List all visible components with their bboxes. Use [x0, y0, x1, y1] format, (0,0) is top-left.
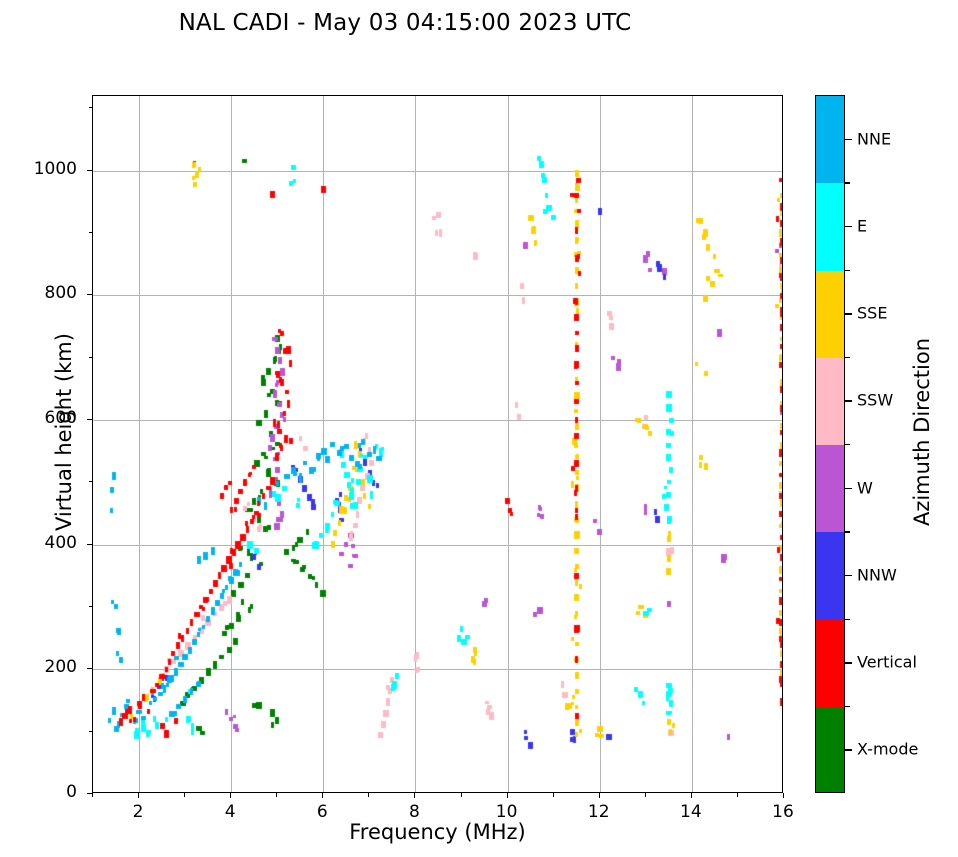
colorbar-segment-nnw [816, 532, 844, 619]
plot-area [92, 95, 783, 793]
colorbar-segment-vertical [816, 620, 844, 707]
colorbar-tick [845, 488, 852, 489]
colorbar-segment-w [816, 445, 844, 532]
x-tick-label: 6 [292, 802, 352, 822]
x-tick-minor [92, 793, 93, 797]
x-tick-label: 8 [384, 802, 444, 822]
x-tick-major [230, 793, 231, 798]
x-tick-major [138, 793, 139, 798]
colorbar-tick-label-nne: NNE [857, 129, 891, 148]
colorbar-boundary-tick [845, 270, 850, 271]
colorbar-tick [845, 400, 852, 401]
colorbar-tick [845, 662, 852, 663]
x-tick-label: 16 [753, 802, 813, 822]
x-tick-minor [737, 793, 738, 797]
colorbar [815, 95, 845, 793]
y-tick-major [87, 294, 92, 295]
y-tick-minor [89, 731, 93, 732]
y-axis-label: Virtual height (km) [52, 132, 76, 732]
x-tick-minor [553, 793, 554, 797]
colorbar-segment-e [816, 183, 844, 270]
x-tick-minor [461, 793, 462, 797]
colorbar-boundary-tick [845, 706, 850, 707]
colorbar-boundary-tick [845, 357, 850, 358]
colorbar-tick-label-e: E [857, 216, 867, 235]
ionogram-page: NAL CADI - May 03 04:15:00 2023 UTC 2468… [0, 0, 958, 857]
colorbar-tick-label-ssw: SSW [857, 391, 893, 410]
x-tick-minor [276, 793, 277, 797]
colorbar-tick-label-w: W [857, 478, 873, 497]
colorbar-tick-label-vertical: Vertical [857, 653, 917, 672]
x-tick-label: 12 [569, 802, 629, 822]
x-axis-label: Frequency (MHz) [92, 820, 783, 844]
y-tick-minor [89, 107, 93, 108]
y-tick-major [87, 544, 92, 545]
colorbar-tick [845, 575, 852, 576]
y-tick-major [87, 170, 92, 171]
x-tick-label: 2 [108, 802, 168, 822]
x-tick-major [691, 793, 692, 798]
colorbar-boundary-tick [845, 182, 850, 183]
colorbar-tick-label-x-mode: X-mode [857, 740, 918, 759]
y-tick-minor [89, 481, 93, 482]
x-tick-major [414, 793, 415, 798]
x-tick-label: 10 [477, 802, 537, 822]
colorbar-tick-label-sse: SSE [857, 304, 887, 323]
colorbar-tick [845, 313, 852, 314]
y-tick-major [87, 793, 92, 794]
y-tick-major [87, 668, 92, 669]
x-tick-minor [368, 793, 369, 797]
y-tick-minor [89, 606, 93, 607]
x-tick-label: 4 [200, 802, 260, 822]
colorbar-label: Azimuth Direction [910, 222, 934, 642]
x-tick-minor [645, 793, 646, 797]
colorbar-tick [845, 139, 852, 140]
y-tick-minor [89, 232, 93, 233]
colorbar-boundary-tick [845, 619, 850, 620]
colorbar-boundary-tick [845, 531, 850, 532]
x-tick-major [783, 793, 784, 798]
colorbar-segment-ssw [816, 358, 844, 445]
x-tick-major [507, 793, 508, 798]
x-tick-major [322, 793, 323, 798]
colorbar-tick [845, 226, 852, 227]
colorbar-tick [845, 749, 852, 750]
y-tick-major [87, 419, 92, 420]
echo-scatter-layer [93, 96, 782, 792]
colorbar-boundary-tick [845, 444, 850, 445]
page-title: NAL CADI - May 03 04:15:00 2023 UTC [0, 10, 810, 36]
y-tick-minor [89, 357, 93, 358]
colorbar-tick-label-nnw: NNW [857, 565, 897, 584]
x-tick-minor [184, 793, 185, 797]
x-tick-label: 14 [661, 802, 721, 822]
colorbar-segment-sse [816, 271, 844, 358]
y-tick-label: 0 [7, 782, 77, 802]
colorbar-segment-x-mode [816, 707, 844, 793]
x-tick-major [599, 793, 600, 798]
colorbar-segment-nne [816, 96, 844, 183]
echo-scatter-canvas [93, 96, 782, 792]
